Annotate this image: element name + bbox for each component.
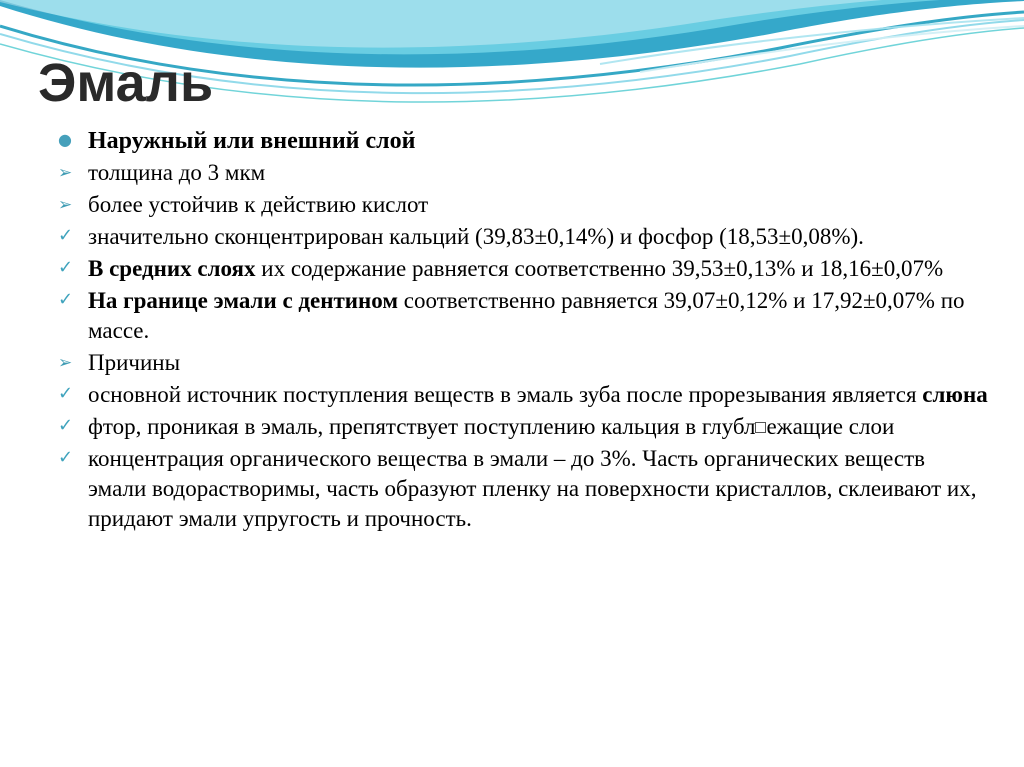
bullet-check-icon: ✓	[58, 285, 82, 315]
bullet-arrow-icon: ➢	[58, 158, 82, 188]
bullet-arrow-icon: ➢	[58, 190, 82, 220]
page-title: Эмаль	[38, 52, 213, 114]
list-item-text: фтор, проникая в эмаль, препятствует пос…	[88, 414, 755, 439]
list-item: ➢ более устойчив к действию кислот	[36, 190, 988, 220]
list-item-lead-bold: На границе эмали с дентином	[88, 288, 398, 313]
list-item: ● Наружный или внешний слой	[36, 126, 988, 156]
list-item: ✓ В средних слоях их содержание равняетс…	[36, 254, 988, 284]
bullet-check-icon: ✓	[58, 379, 82, 409]
bullet-arrow-icon: ➢	[58, 348, 82, 378]
list-item-text: основной источник поступления веществ в …	[88, 382, 922, 407]
bullet-check-icon: ✓	[58, 221, 82, 251]
list-item-text-cont: ежащие слои	[766, 414, 894, 439]
list-item-text: значительно сконцентрирован кальций (39,…	[88, 224, 864, 249]
list-item: ✓ основной источник поступления веществ …	[36, 380, 988, 410]
list-item-lead-bold: В средних слоях	[88, 256, 256, 281]
list-item-tail-bold: слюна	[922, 382, 987, 407]
list-item: ✓ фтор, проникая в эмаль, препятствует п…	[36, 412, 988, 442]
list-item: ✓ концентрация органического вещества в …	[36, 444, 988, 534]
bullet-check-icon: ✓	[58, 411, 82, 441]
list-item-text: Наружный или внешний слой	[88, 128, 415, 154]
slide-canvas: Эмаль ● Наружный или внешний слой ➢ толщ…	[0, 0, 1024, 767]
list-item-text: концентрация органического вещества в эм…	[88, 446, 976, 531]
list-item-text: Причины	[88, 350, 180, 375]
bullet-list: ● Наружный или внешний слой ➢ толщина до…	[36, 126, 988, 536]
bullet-check-icon: ✓	[58, 443, 82, 473]
list-item-text: толщина до 3 мкм	[88, 160, 265, 185]
bullet-dot-icon: ●	[58, 125, 82, 155]
list-item: ➢ толщина до 3 мкм	[36, 158, 988, 188]
list-item: ✓ На границе эмали с дентином соответств…	[36, 286, 988, 346]
list-item: ✓ значительно сконцентрирован кальций (3…	[36, 222, 988, 252]
list-item-text: более устойчив к действию кислот	[88, 192, 428, 217]
list-item-text: их содержание равняется соответственно 3…	[256, 256, 944, 281]
bullet-check-icon: ✓	[58, 253, 82, 283]
stray-box-glyph	[755, 422, 766, 433]
list-item: ➢ Причины	[36, 348, 988, 378]
